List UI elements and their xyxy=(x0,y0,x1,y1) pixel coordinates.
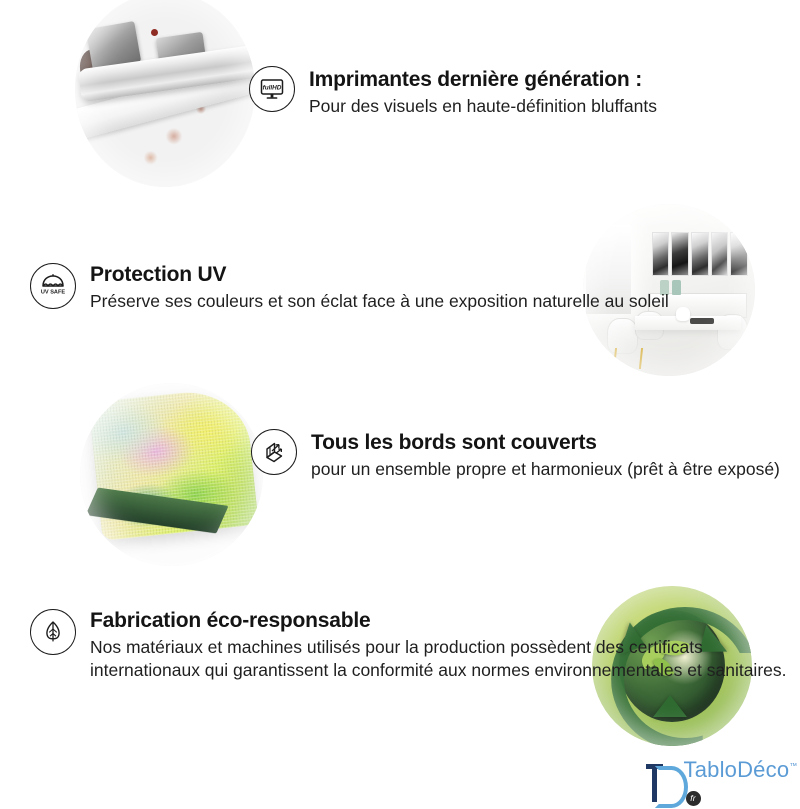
recycle-arrow-3 xyxy=(653,695,687,717)
teapot xyxy=(676,307,690,321)
svg-text:UV SAFE: UV SAFE xyxy=(41,290,66,296)
feature-body: Préserve ses couleurs et son éclat face … xyxy=(90,290,669,313)
feature-body: Pour des visuels en haute-définition blu… xyxy=(309,95,657,118)
chair-legs xyxy=(613,348,643,369)
feature-covered-edges: Tous les bords sont couverts pour un ens… xyxy=(251,429,780,481)
printer-photo xyxy=(75,0,255,187)
decor-bottle-right xyxy=(672,280,681,295)
trademark-symbol: ™ xyxy=(789,762,797,771)
feature-copy: Imprimantes dernière génération : Pour d… xyxy=(309,68,657,118)
td-monogram-icon xyxy=(646,764,677,802)
brand-wordmark: TabloDéco™fr xyxy=(684,757,800,809)
uv-safe-umbrella-icon: UV SAFE xyxy=(30,263,76,309)
feature-print-quality: fullHD Imprimantes dernière génération :… xyxy=(249,66,657,118)
brand-name: TabloDéco xyxy=(684,757,790,782)
feature-copy: Fabrication éco-responsable Nos matériau… xyxy=(90,609,800,683)
feature-eco-manufacturing: Fabrication éco-responsable Nos matériau… xyxy=(30,609,800,683)
feature-title: Fabrication éco-responsable xyxy=(90,609,800,633)
feature-copy: Tous les bords sont couverts pour un ens… xyxy=(311,431,780,481)
infographic-canvas: fullHD Imprimantes dernière génération :… xyxy=(0,0,800,800)
brand-logo[interactable]: TabloDéco™fr xyxy=(646,757,800,809)
tray xyxy=(690,318,714,325)
wrapped-edge-icon xyxy=(251,429,297,475)
feature-title: Imprimantes dernière génération : xyxy=(309,68,657,92)
feature-copy: Protection UV Préserve ses couleurs et s… xyxy=(90,263,669,313)
feature-title: Tous les bords sont couverts xyxy=(311,431,780,455)
feature-body: pour un ensemble propre et harmonieux (p… xyxy=(311,458,780,481)
svg-text:fullHD: fullHD xyxy=(263,85,282,92)
feature-title: Protection UV xyxy=(90,263,669,287)
indicator-dot xyxy=(151,29,158,36)
fullhd-monitor-icon: fullHD xyxy=(249,66,295,112)
feature-body: Nos matériaux et machines utilisés pour … xyxy=(90,636,800,683)
tld-badge: fr xyxy=(686,791,701,806)
leaf-icon xyxy=(30,609,76,655)
canvas-photo xyxy=(80,383,263,566)
feature-uv-protection: UV SAFE Protection UV Préserve ses coule… xyxy=(30,263,669,313)
